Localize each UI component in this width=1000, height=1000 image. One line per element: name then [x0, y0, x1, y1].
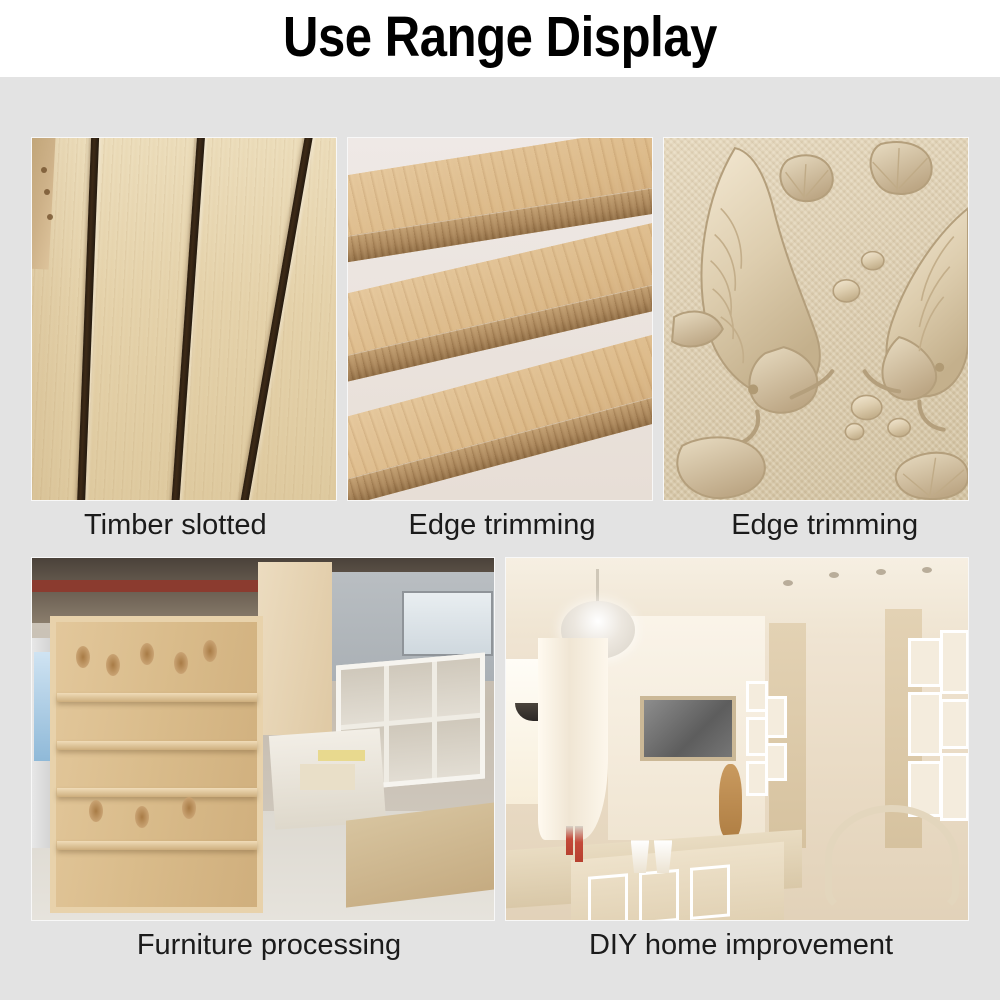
- greek-key-motif: [690, 864, 730, 920]
- wood-knot: [135, 806, 149, 828]
- gallery-cell-carved-relief[interactable]: [664, 138, 968, 500]
- timber-slotted-photo: [32, 138, 336, 500]
- yellow-strip: [318, 750, 364, 761]
- wood-knot: [182, 797, 196, 819]
- timber-knot: [47, 214, 53, 220]
- lattice-cell: [765, 743, 787, 782]
- wall-mounted-tv: [640, 696, 736, 762]
- wood-knot: [106, 654, 120, 676]
- caption-edge-trimming-boards: Edge trimming: [359, 505, 652, 545]
- timber-slot: [169, 138, 207, 500]
- cube-slot: [437, 658, 480, 717]
- lattice-cell: [908, 692, 942, 756]
- top-caption-row: Timber slotted Edge trimming Edge trimmi…: [32, 505, 968, 545]
- pine-bookcase: [50, 616, 263, 913]
- koi-fish-right: [865, 208, 968, 429]
- downlight-icon: [783, 580, 793, 586]
- top-photo-row: [32, 138, 968, 500]
- cube-slot: [341, 667, 384, 726]
- lattice-cell: [940, 753, 968, 821]
- greek-key-motif: [588, 873, 628, 920]
- furniture-workshop-photo: [32, 558, 494, 920]
- gallery-cell-timber-slotted[interactable]: [32, 138, 336, 500]
- caption-diy-home-improvement: DIY home improvement: [508, 925, 968, 965]
- workshop-table: [346, 802, 494, 908]
- cube-slot: [389, 723, 432, 782]
- koi-relief-carving: [664, 138, 968, 500]
- cube-slot: [437, 719, 480, 778]
- wooden-vase: [719, 764, 742, 836]
- interior-living-room-photo: [506, 558, 968, 920]
- red-bottle: [575, 826, 582, 862]
- wood-knot: [76, 646, 90, 668]
- timber-knot: [44, 189, 50, 195]
- chandelier-cord: [596, 569, 599, 605]
- product-info-page: Use Range Display: [0, 0, 1000, 1000]
- lattice-cell: [908, 638, 942, 687]
- edge-trimming-boards-photo: [348, 138, 652, 500]
- lotus-leaf-bottom-right: [896, 453, 968, 499]
- tall-wardrobe: [258, 562, 332, 736]
- caption-edge-trimming-relief: Edge trimming: [663, 505, 968, 545]
- lattice-cell: [940, 630, 968, 694]
- bookcase-shelf: [57, 693, 257, 702]
- wood-knot: [89, 800, 103, 822]
- bookcase-shelf: [57, 741, 257, 750]
- wood-knot: [174, 652, 188, 674]
- lattice-cell: [940, 699, 968, 748]
- lattice-cell: [765, 696, 787, 738]
- lotus-leaf-top-center: [780, 155, 832, 201]
- timber-edge: [32, 138, 58, 269]
- downlight-icon: [922, 567, 932, 573]
- red-bottle: [566, 826, 573, 855]
- dining-chair: [825, 805, 959, 913]
- ceiling-beam: [32, 580, 272, 593]
- gallery-cell-furniture-processing[interactable]: [32, 558, 494, 920]
- workshop-window: [402, 591, 494, 657]
- timber-slot: [75, 138, 99, 500]
- cube-slot: [389, 662, 432, 721]
- caption-timber-slotted: Timber slotted: [32, 505, 347, 545]
- bottom-photo-row: [32, 558, 968, 920]
- carved-koi-relief-photo: [664, 138, 968, 500]
- downlight-icon: [876, 569, 886, 575]
- bookcase-shelf: [57, 841, 257, 850]
- timber-slot: [235, 138, 317, 500]
- greek-key-motif: [639, 869, 679, 920]
- wood-knot: [203, 640, 217, 662]
- lotus-leaf-top-right: [871, 142, 932, 194]
- lotus-leaf-bottom-left: [677, 437, 765, 498]
- gallery-cell-edge-trimming-boards[interactable]: [348, 138, 652, 500]
- workshop-box: [300, 764, 355, 789]
- gallery-cell-diy-home[interactable]: [506, 558, 968, 920]
- caption-furniture-processing: Furniture processing: [32, 925, 496, 965]
- wood-knot: [140, 643, 154, 665]
- window-curtain: [538, 638, 607, 841]
- page-title: Use Range Display: [70, 2, 930, 72]
- bookcase-shelf: [57, 788, 257, 797]
- bottom-caption-row: Furniture processing DIY home improvemen…: [32, 925, 968, 965]
